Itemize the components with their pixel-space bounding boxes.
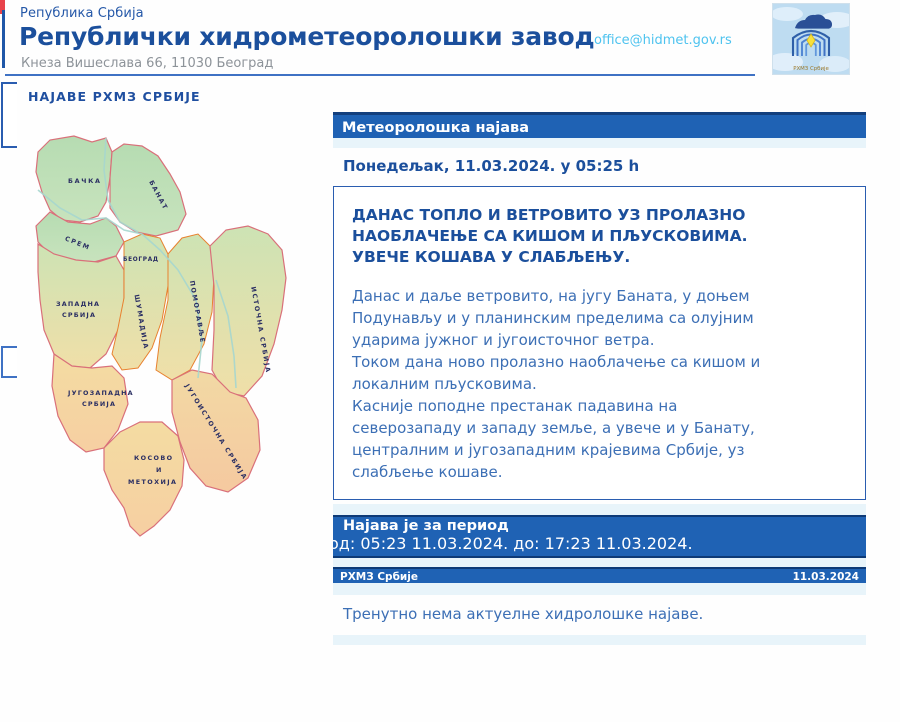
map-label-backa: БАЧКА <box>68 177 102 185</box>
map-label-jugozapadna2: СРБИЈА <box>82 400 116 408</box>
footer-source: РХМЗ Србије <box>340 569 418 583</box>
period-label: Најава је за период <box>333 518 866 534</box>
announcement-body: Данас и даље ветровито, на југу Баната, … <box>352 285 847 483</box>
header-country: Република Србија <box>20 6 144 21</box>
map-label-zapadna: ЗАПАДНА <box>56 300 100 308</box>
map-label-metohija: МЕТОХИЈА <box>128 478 177 486</box>
region-istocna-srbija <box>210 226 286 396</box>
body-line-4: Током дана ново пролазно наоблачење са к… <box>352 351 847 373</box>
section-title-bar: Метеоролошка најава <box>333 112 866 138</box>
header-address: Кнеза Вишеслава 66, 11030 Београд <box>21 56 273 71</box>
map-label-kosovo2: И <box>156 466 163 474</box>
logo-icon: РХМЗ Србије <box>773 4 849 74</box>
nav-najave-rhmz[interactable]: НАЈАВЕ РХМЗ СРБИЈЕ <box>28 89 201 104</box>
announcement-headline: ДАНАС ТОПЛО И ВЕТРОВИТО УЗ ПРОЛАЗНО НАОБ… <box>352 205 847 268</box>
headline-line-1: ДАНАС ТОПЛО И ВЕТРОВИТО УЗ ПРОЛАЗНО <box>352 205 847 226</box>
map-label-zapadna2: СРБИЈА <box>62 311 96 319</box>
map-label-jugozapadna: ЈУГОЗАПАДНА <box>67 389 134 397</box>
hydro-message: Тренутно нема актуелне хидролошке најаве… <box>333 595 866 623</box>
period-bar: Најава је за период од: 05:23 11.03.2024… <box>333 515 866 558</box>
rhmz-logo: РХМЗ Србије <box>772 3 850 75</box>
band-spacer-4 <box>333 583 866 595</box>
map-label-beograd: БЕОГРАД <box>123 257 159 263</box>
band-spacer-3 <box>333 558 866 567</box>
edge-frame-bottom <box>1 346 17 378</box>
body-line-5: локалним пљусковима. <box>352 373 847 395</box>
body-line-9: слабљење кошаве. <box>352 461 847 483</box>
body-line-7: северозападу и западу земље, а увече и у… <box>352 417 847 439</box>
headline-line-2: НАОБЛАЧЕЊЕ СА КИШОМ И ПЉУСКОВИМА. <box>352 226 847 247</box>
header-divider <box>17 74 755 76</box>
body-line-2: Подунављу и у планинским пределима са ол… <box>352 307 847 329</box>
announcement-box: ДАНАС ТОПЛО И ВЕТРОВИТО УЗ ПРОЛАЗНО НАОБ… <box>333 186 866 500</box>
body-line-8: централним и југозападним крајевима Срби… <box>352 439 847 461</box>
period-range: од: 05:23 11.03.2024. до: 17:23 11.03.20… <box>329 534 866 553</box>
headline-line-3: УВЕЧЕ КОШАВА У СЛАБЉЕЊУ. <box>352 247 847 268</box>
body-line-3: ударима јужног и југоисточног ветра. <box>352 329 847 351</box>
edge-frame-top <box>1 82 17 148</box>
map-icon: .rl { font-family: "DejaVu Sans", sans-s… <box>20 130 320 570</box>
page-header: Република Србија Републички хидрометеоро… <box>0 0 900 76</box>
footer-date: 11.03.2024 <box>793 569 859 583</box>
band-spacer-2 <box>333 504 866 515</box>
serbia-region-map[interactable]: .rl { font-family: "DejaVu Sans", sans-s… <box>20 130 320 570</box>
email-link[interactable]: office@hidmet.gov.rs <box>594 33 732 48</box>
body-line-6: Касније поподне престанак падавина на <box>352 395 847 417</box>
announcement-datetime: Понедељак, 11.03.2024. у 05:25 h <box>333 148 866 186</box>
logo-caption: РХМЗ Србије <box>793 66 829 72</box>
source-footer-bar: РХМЗ Србије 11.03.2024 <box>333 567 866 583</box>
body-line-1: Данас и даље ветровито, на југу Баната, … <box>352 285 847 307</box>
band-spacer-5 <box>333 635 866 645</box>
main-content: Метеоролошка најава Понедељак, 11.03.202… <box>333 112 866 645</box>
page-title: Републички хидрометеоролошки завод <box>19 22 594 51</box>
map-label-kosovo: КОСОВО <box>134 454 173 462</box>
